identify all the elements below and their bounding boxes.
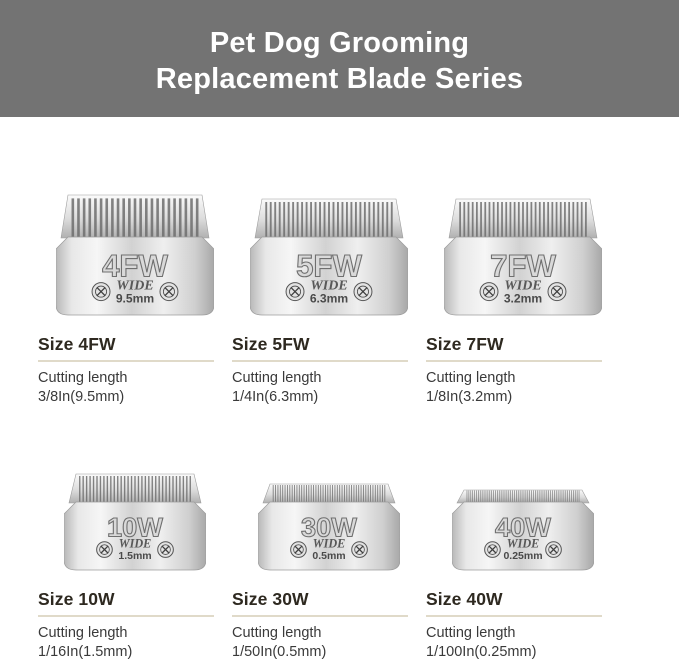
title-underline <box>232 615 408 617</box>
header-banner: Pet Dog Grooming Replacement Blade Serie… <box>0 0 679 117</box>
product-caption-4fw: Size 4FW Cutting length 3/8In(9.5mm) <box>38 320 232 407</box>
product-card-5fw: 5FWWIDE6.3mm Size 5FW Cutting length 1/4… <box>232 117 426 407</box>
blade-image-5fw: 5FWWIDE6.3mm <box>232 117 426 320</box>
cutting-length-value: 1/8In(3.2mm) <box>426 388 602 407</box>
title-underline <box>38 360 214 362</box>
product-row-2: 10WWIDE1.5mm Size 10W Cutting length 1/1… <box>38 407 641 637</box>
blade-graphic: 4FWWIDE9.5mm <box>56 194 214 320</box>
blade-image-4fw: 4FWWIDE9.5mm <box>38 117 232 320</box>
product-title: Size 4FW <box>38 334 214 355</box>
title-underline <box>426 615 602 617</box>
svg-text:3.2mm: 3.2mm <box>504 292 542 306</box>
product-caption-10w: Size 10W Cutting length 1/16In(1.5mm) <box>38 575 232 662</box>
title-underline <box>426 360 602 362</box>
cutting-length-value: 3/8In(9.5mm) <box>38 388 214 407</box>
svg-text:0.5mm: 0.5mm <box>312 550 345 562</box>
svg-text:WIDE: WIDE <box>313 537 346 551</box>
svg-text:WIDE: WIDE <box>507 537 540 551</box>
blade-graphic: 40WWIDE0.25mm <box>452 489 594 575</box>
svg-text:9.5mm: 9.5mm <box>116 292 154 306</box>
product-title: Size 30W <box>232 589 408 610</box>
cutting-length-value: 1/100In(0.25mm) <box>426 643 602 662</box>
svg-text:6.3mm: 6.3mm <box>310 292 348 306</box>
blade-image-40w: 40WWIDE0.25mm <box>426 407 620 575</box>
product-title: Size 10W <box>38 589 214 610</box>
product-caption-40w: Size 40W Cutting length 1/100In(0.25mm) <box>426 575 620 662</box>
blade-graphic: 7FWWIDE3.2mm <box>444 198 602 320</box>
cutting-length-label: Cutting length <box>232 624 408 643</box>
svg-text:WIDE: WIDE <box>119 537 152 551</box>
page-title-line-1: Pet Dog Grooming <box>210 25 469 61</box>
page-title-line-2: Replacement Blade Series <box>156 61 523 97</box>
product-caption-30w: Size 30W Cutting length 1/50In(0.5mm) <box>232 575 426 662</box>
product-title: Size 5FW <box>232 334 408 355</box>
product-row-1: 4FWWIDE9.5mm Size 4FW Cutting length 3/8… <box>38 117 641 407</box>
product-grid: 4FWWIDE9.5mm Size 4FW Cutting length 3/8… <box>0 117 679 637</box>
product-card-4fw: 4FWWIDE9.5mm Size 4FW Cutting length 3/8… <box>38 117 232 407</box>
cutting-length-label: Cutting length <box>426 624 602 643</box>
blade-image-7fw: 7FWWIDE3.2mm <box>426 117 620 320</box>
product-card-7fw: 7FWWIDE3.2mm Size 7FW Cutting length 1/8… <box>426 117 620 407</box>
product-title: Size 7FW <box>426 334 602 355</box>
title-underline <box>232 360 408 362</box>
product-caption-7fw: Size 7FW Cutting length 1/8In(3.2mm) <box>426 320 620 407</box>
svg-text:0.25mm: 0.25mm <box>503 550 542 562</box>
blade-graphic: 30WWIDE0.5mm <box>258 483 400 575</box>
cutting-length-value: 1/16In(1.5mm) <box>38 643 214 662</box>
title-underline <box>38 615 214 617</box>
product-card-10w: 10WWIDE1.5mm Size 10W Cutting length 1/1… <box>38 407 232 637</box>
blade-graphic: 10WWIDE1.5mm <box>64 473 206 575</box>
cutting-length-value: 1/50In(0.5mm) <box>232 643 408 662</box>
cutting-length-label: Cutting length <box>426 369 602 388</box>
cutting-length-value: 1/4In(6.3mm) <box>232 388 408 407</box>
product-card-40w: 40WWIDE0.25mm Size 40W Cutting length 1/… <box>426 407 620 637</box>
cutting-length-label: Cutting length <box>232 369 408 388</box>
product-title: Size 40W <box>426 589 602 610</box>
blade-image-30w: 30WWIDE0.5mm <box>232 407 426 575</box>
cutting-length-label: Cutting length <box>38 624 214 643</box>
product-card-30w: 30WWIDE0.5mm Size 30W Cutting length 1/5… <box>232 407 426 637</box>
blade-graphic: 5FWWIDE6.3mm <box>250 198 408 320</box>
product-caption-5fw: Size 5FW Cutting length 1/4In(6.3mm) <box>232 320 426 407</box>
blade-image-10w: 10WWIDE1.5mm <box>38 407 232 575</box>
cutting-length-label: Cutting length <box>38 369 214 388</box>
svg-text:1.5mm: 1.5mm <box>118 550 151 562</box>
